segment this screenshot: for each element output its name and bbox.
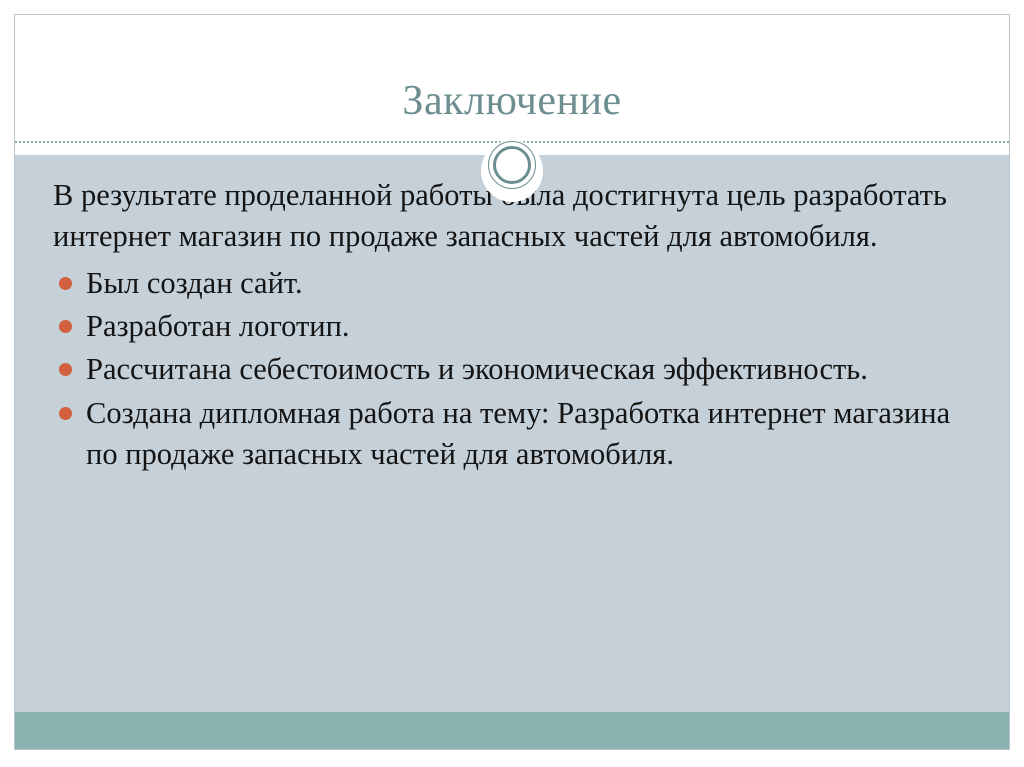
list-item: Рассчитана себестоимость и экономическая… (37, 349, 983, 390)
slide-header-band: Заключение (15, 15, 1009, 155)
list-item-label: Создана дипломная работа на тему: Разраб… (86, 393, 983, 476)
list-item-label: Разработан логотип. (86, 306, 983, 347)
slide-content: В результате проделанной работы была дос… (37, 175, 983, 477)
bullet-dot-icon (59, 363, 72, 376)
page-title: Заключение (15, 79, 1009, 123)
slide-footer-bar (15, 712, 1009, 749)
bullet-dot-icon (59, 320, 72, 333)
bullet-list: Был создан сайт. Разработан логотип. Рас… (37, 263, 983, 476)
presentation-slide: Заключение В результате проделанной рабо… (14, 14, 1010, 750)
list-item: Разработан логотип. (37, 306, 983, 347)
circle-ornament-inner-icon (493, 146, 531, 184)
bullet-dot-icon (59, 407, 72, 420)
list-item-label: Был создан сайт. (86, 263, 983, 304)
list-item: Был создан сайт. (37, 263, 983, 304)
bullet-dot-icon (59, 277, 72, 290)
slide-body-band: В результате проделанной работы была дос… (15, 155, 1009, 712)
list-item-label: Рассчитана себестоимость и экономическая… (86, 349, 983, 390)
list-item: Создана дипломная работа на тему: Разраб… (37, 393, 983, 476)
